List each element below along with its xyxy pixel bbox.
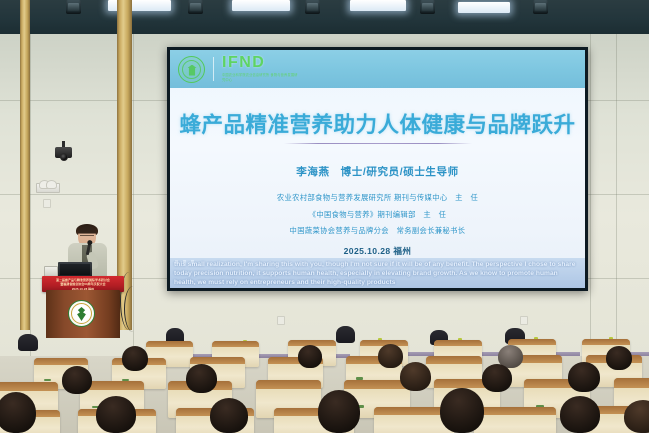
affiliation-line: 中国蔬菜协会营养与品牌分会 常务副会长兼秘书长 (290, 226, 466, 236)
seat-back (0, 382, 58, 391)
seat-back (474, 407, 556, 415)
camera-lens-icon (60, 153, 68, 161)
auditorium-seat (474, 407, 556, 433)
ceiling-spotlight (420, 0, 435, 14)
seat-number-tag (44, 379, 51, 381)
live-caption-overlay: this small realization, I'm sharing this… (170, 258, 585, 288)
wall-plate (43, 199, 51, 208)
laptop-screen (60, 264, 90, 275)
brand-subtitle: 中国农业科学院农业信息研究所 食物与营养发展研究中心 (222, 73, 300, 82)
projection-screen: IFND 中国农业科学院农业信息研究所 食物与营养发展研究中心 蜂产品精准营养助… (167, 47, 588, 291)
attendee-head (568, 362, 600, 392)
slide-affiliations: 农业农村部食物与营养发展研究所 期刊与传媒中心 主 任 《中国食物与营养》期刊编… (170, 193, 585, 236)
wooden-pillar (20, 0, 30, 330)
attendee-head (560, 396, 600, 433)
slide-surface: IFND 中国农业科学院农业信息研究所 食物与营养发展研究中心 蜂产品精准营养助… (170, 50, 585, 288)
brand-wordmark: IFND (222, 55, 300, 71)
seat-back (508, 339, 556, 345)
attendee-head (606, 346, 632, 370)
slide-title: 蜂产品精准营养助力人体健康与品牌跃升 (179, 114, 575, 138)
ceiling-light-panel (232, 0, 290, 11)
attendee-head (298, 345, 322, 368)
title-underline (284, 143, 472, 145)
seat-back (34, 358, 88, 365)
slide-date-location: 2025.10.28 福州 (170, 245, 585, 257)
attendee-head (0, 392, 36, 433)
ceiling-spotlight (188, 0, 203, 14)
seat-back (146, 341, 193, 347)
ceiling-spotlight (305, 0, 320, 14)
seat-back (614, 378, 649, 388)
seat-back (582, 339, 630, 345)
glasses-icon (80, 235, 94, 238)
affiliation-line: 农业农村部食物与营养发展研究所 期刊与传媒中心 主 任 (277, 193, 478, 203)
wall-plate (277, 316, 285, 325)
ceiling (0, 0, 649, 36)
ifnd-seal-icon (178, 56, 205, 83)
cable (124, 286, 142, 332)
ceiling-spotlight (533, 0, 548, 14)
attendee-head (210, 398, 248, 433)
attendee-head (400, 362, 431, 391)
wall-seam (30, 34, 31, 364)
slide-header-band: IFND 中国农业科学院农业信息研究所 食物与营养发展研究中心 (170, 50, 585, 88)
seat-back (212, 341, 259, 347)
wall-plate (520, 316, 528, 325)
attendee-head (62, 366, 92, 394)
attendee-head (186, 364, 217, 393)
affiliation-line: 《中国食物与营养》期刊编辑部 主 任 (309, 210, 447, 220)
attendee-head (122, 346, 148, 371)
wall-seam (590, 34, 591, 364)
attendee-head (96, 396, 136, 433)
slide-speaker-line: 李海燕 博士/研究员/硕士生导师 (170, 164, 585, 179)
caption-text: this small realization, I'm sharing this… (174, 260, 581, 287)
attendee-head (440, 388, 484, 433)
ceiling-spotlight (66, 0, 81, 14)
seat-back (434, 340, 482, 346)
attendee (336, 326, 355, 343)
wall-seam (616, 34, 617, 364)
attendee-head (318, 390, 360, 433)
attendee-head (482, 364, 512, 392)
ceiling-light-panel (458, 2, 510, 13)
ceiling-light-panel (350, 0, 406, 11)
seat-back (256, 380, 321, 389)
attendee (18, 334, 38, 351)
divider (213, 57, 214, 81)
emergency-light (36, 183, 60, 193)
attendee-head (624, 400, 649, 433)
attendee-head (378, 344, 403, 368)
conference-hall-photo: IFND 中国农业科学院农业信息研究所 食物与营养发展研究中心 蜂产品精准营养助… (0, 0, 649, 433)
seat-back (426, 356, 482, 364)
association-emblem-icon (68, 300, 95, 327)
